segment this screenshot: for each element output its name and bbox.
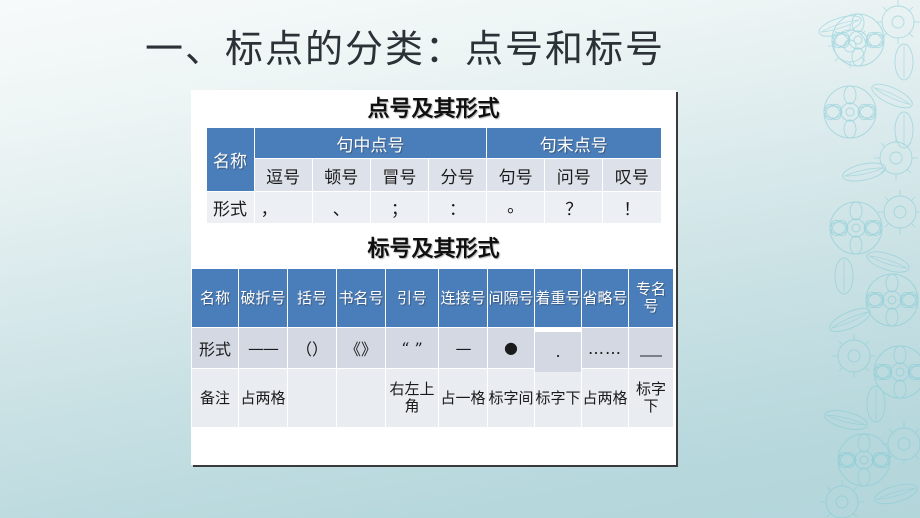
header-cell-zhuanminghao: 专名号 — [629, 269, 674, 328]
table-row-forms: 形式 —— （） 《》 “ ” — ● . …… — [192, 328, 674, 369]
tables-card: 点号及其形式 名称 句中点号 句末点号 逗号 顿号 冒号 分号 句号 — [191, 90, 676, 465]
form-cell-pozhehao: —— — [239, 328, 288, 369]
note-cell-yinhao: 右左上角 — [386, 369, 439, 428]
note-cell-kuohao — [288, 369, 337, 428]
form-cell-shuminghao: 《》 — [337, 328, 386, 369]
floral-pattern-decoration — [780, 0, 920, 518]
table-row-header: 名称 破折号 括号 书名号 引号 连接号 间隔号 着重号 省略号 专名号 — [192, 269, 674, 328]
form-cell-tanhao: ！ — [603, 192, 661, 224]
header-cell-shenglvehao: 省略号 — [582, 269, 629, 328]
header-cell-midsentence: 句中点号 — [254, 128, 487, 159]
subheader-cell-juhao: 句号 — [487, 159, 545, 192]
header-cell-name: 名称 — [206, 128, 254, 192]
form-cell-maohao: ； — [370, 192, 428, 224]
table-row-notes: 备注 占两格 右左上角 占一格 标字间 标字下 占两格 标字下 — [192, 369, 674, 428]
form-cell-shenglvehao: …… — [582, 328, 629, 369]
form-cell-fenhao: ： — [428, 192, 486, 224]
form-cell-lianjiehao: — — [439, 328, 488, 369]
table-biaohao: 名称 破折号 括号 书名号 引号 连接号 间隔号 着重号 省略号 专名号 形式 … — [191, 268, 674, 428]
note-cell-lianjiehao: 占一格 — [439, 369, 488, 428]
note-cell-zhuanminghao: 标字下 — [629, 369, 674, 428]
subheader-cell-douhao: 逗号 — [254, 159, 312, 192]
table-biaohao-caption: 标号及其形式 — [191, 238, 676, 262]
form-cell-kuohao: （） — [288, 328, 337, 369]
rowlabel-note: 备注 — [192, 369, 239, 428]
note-cell-zhezhonghao: 标字下 — [535, 369, 582, 428]
header-cell-endsentence: 句末点号 — [487, 128, 661, 159]
subheader-cell-fenhao: 分号 — [428, 159, 486, 192]
form-cell-wenhao: ？ — [545, 192, 603, 224]
form-cell-dunhao: 、 — [312, 192, 370, 224]
subheader-cell-maohao: 冒号 — [370, 159, 428, 192]
slide-canvas: 一、标点的分类：点号和标号 点号及其形式 名称 句中点号 句末点号 逗号 顿号 … — [0, 0, 920, 518]
header-cell-shuminghao: 书名号 — [337, 269, 386, 328]
table-dianhao-caption: 点号及其形式 — [191, 98, 676, 122]
form-cell-jiangehao: ● — [488, 328, 535, 369]
table-row-sub-header: 逗号 顿号 冒号 分号 句号 问号 叹号 — [206, 159, 661, 192]
note-cell-shenglvehao: 占两格 — [582, 369, 629, 428]
form-cell-douhao: ， — [254, 192, 312, 224]
table-row-forms: 形式 ， 、 ； ： 。 ？ ！ — [206, 192, 661, 224]
page-title: 一、标点的分类：点号和标号 — [0, 18, 810, 73]
table-dianhao: 名称 句中点号 句末点号 逗号 顿号 冒号 分号 句号 问号 叹号 形式 ， 、 — [206, 127, 662, 224]
header-cell-kuohao: 括号 — [288, 269, 337, 328]
table-row-group-header: 名称 句中点号 句末点号 — [206, 128, 661, 159]
subheader-cell-wenhao: 问号 — [545, 159, 603, 192]
header-cell-lianjiehao: 连接号 — [439, 269, 488, 328]
subheader-cell-dunhao: 顿号 — [312, 159, 370, 192]
header-cell-name: 名称 — [192, 269, 239, 328]
header-cell-zhezhonghao: 着重号 — [535, 269, 582, 328]
header-cell-yinhao: 引号 — [386, 269, 439, 328]
rowlabel-form: 形式 — [192, 328, 239, 369]
underline-mark-icon — [640, 355, 662, 357]
header-cell-pozhehao: 破折号 — [239, 269, 288, 328]
subheader-cell-tanhao: 叹号 — [603, 159, 661, 192]
note-cell-jiangehao: 标字间 — [488, 369, 535, 428]
form-cell-zhezhonghao: . — [535, 332, 582, 373]
rowlabel-form: 形式 — [206, 192, 254, 224]
form-cell-juhao: 。 — [487, 192, 545, 224]
note-cell-pozhehao: 占两格 — [239, 369, 288, 428]
form-cell-yinhao: “ ” — [386, 328, 439, 369]
header-cell-jiangehao: 间隔号 — [488, 269, 535, 328]
note-cell-shuminghao — [337, 369, 386, 428]
form-cell-zhuanminghao — [629, 328, 674, 369]
